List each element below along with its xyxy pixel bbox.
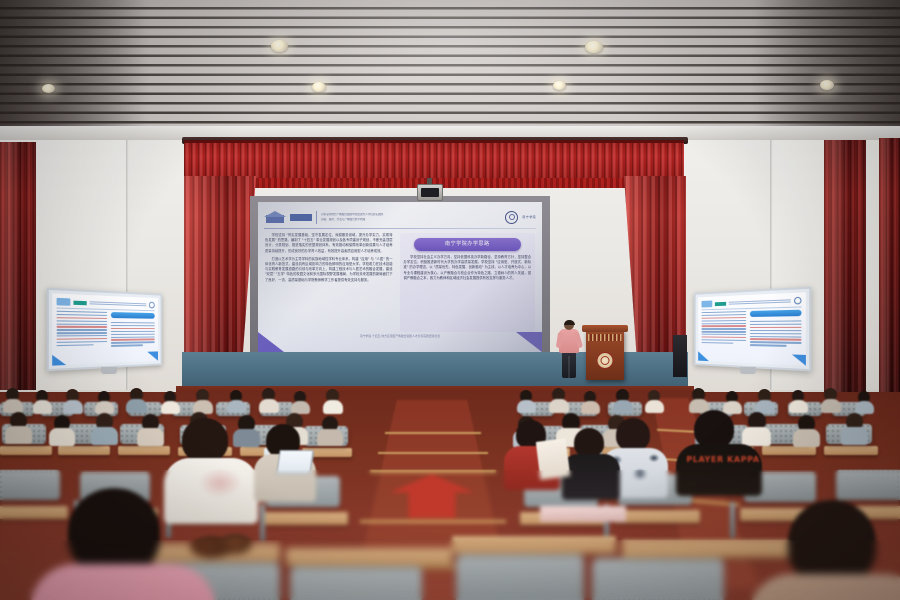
desk [762,446,816,455]
seat [456,554,584,600]
downlight-4 [553,81,566,90]
desk [0,506,68,519]
seat [0,470,60,500]
aisle-step-line-2 [378,452,488,454]
downlight-6 [820,80,834,90]
stage-speaker-box [673,335,687,377]
slide-section-title: 南宁学院办学思路 [414,238,521,251]
aisle-step-line-3 [370,470,496,473]
forward-arrow-icon [390,474,474,518]
window-curtain-right-2 [879,138,900,392]
mini-bar-icon [715,301,726,305]
university-name: 南宁学院 [522,215,536,219]
auditorium-scene: 对扣深化地方产教融合赋能中国式现代人才培养实践的 思路、路径、方法与产教融合办学… [0,0,900,600]
shirt-graphic [198,468,242,498]
seat [836,470,900,500]
left-paragraph-2: 打造以艺术学为主导学科的民族地域性学科专业体系，构建 "应用" 与 "人居" 的… [265,257,393,283]
header-rule [264,228,536,229]
seat-leg [260,504,265,542]
desk [452,536,616,554]
mini-right-col [111,312,155,353]
desk-paper [536,438,570,479]
presenter [558,320,580,378]
ceiling-camera-icon [417,184,443,201]
desk [614,510,700,523]
desk [824,446,878,455]
right-paragraph-1: 学校坚持社会主义办学方向，坚持依据科技办学新路径，坚持教育方针，坚持整合办学定位… [404,255,532,281]
desk-items [218,534,252,554]
mini-seal-icon [149,302,155,309]
slide-header: 对扣深化地方产教融合赋能中国式现代人才培养实践的 思路、路径、方法与产教融合办学… [264,207,536,227]
slide-left-column: 学校坚持 "育实发展基础，坚守发展定位，深耕服务领域，提升办学实力，实现特色发展… [265,233,393,332]
monitor-stand-right [740,367,756,374]
jacket-text: PLAYER KAPPA [686,455,760,464]
laptop-open [276,450,313,474]
downlight-1 [42,84,55,93]
slide-body: 学校坚持 "育实发展基础，坚守发展定位，深耕服务领域，提升办学实力，实现特色发展… [265,233,535,332]
desk-paper [540,506,626,522]
house-logo-icon [264,211,286,223]
university-seal-icon [505,211,518,224]
left-paragraph-1: 学校坚持 "育实发展基础，坚守发展定位，深耕服务领域，提升办学实力，实现特色发展… [265,233,393,254]
stage-curtain-pelmet [184,140,684,188]
mini-section-title [111,312,155,319]
lectern [586,330,624,380]
desk [286,548,452,566]
aisle-step-line-1 [385,432,481,434]
desk [118,446,170,455]
desk [262,512,348,525]
ceiling [0,0,900,132]
desk [58,446,110,455]
logo-bar-icon [290,214,312,221]
mini-section-title [750,310,802,317]
slide-footer: 南宁学院·十四五·地方应用型产教融合赋能人才培养实践经验交流 [258,332,542,352]
mini-right-col [750,310,802,355]
header-text-block: 对扣深化地方产教融合赋能中国式现代人才培养实践的 思路、路径、方法与产教融合办学… [321,213,501,221]
seat [592,558,724,600]
slide-header-line2: 思路、路径、方法与产教融合办学内涵 [321,218,501,221]
downlight-2 [271,40,288,52]
mini-left-col [57,311,108,355]
university-emblem-icon [597,352,614,369]
window-curtain-far-left [0,142,36,390]
desk [622,540,792,558]
mini-logo-icon [701,300,712,307]
header-divider [316,211,317,224]
side-display-left [47,288,162,372]
mini-seal-icon [794,297,802,305]
slide-right-column: 南宁学院办学思路 学校坚持社会主义办学方向，坚持依据科技办学新路径，坚持教育方针… [400,233,536,332]
monitor-stand-left [101,367,117,374]
aisle-step-line-4 [360,520,506,523]
main-projection-screen: 对扣深化地方产教融合赋能中国式现代人才培养实践的 思路、路径、方法与产教融合办学… [258,202,542,352]
mini-left-col [701,311,746,353]
seat-leg [730,502,735,538]
downlight-3 [312,82,326,92]
seat [290,566,422,600]
presentation-slide: 对扣深化地方产教融合赋能中国式现代人才培养实践的 思路、路径、方法与产教融合办学… [258,202,542,352]
mini-bar-icon [73,300,86,305]
desk [0,446,52,455]
slide-header-line1: 对扣深化地方产教融合赋能中国式现代人才培养实践的 [321,213,501,216]
mini-logo-icon [57,298,71,306]
slide-footer-text: 南宁学院·十四五·地方应用型产教融合赋能人才培养实践经验交流 [258,334,542,338]
downlight-5 [585,41,603,53]
side-display-right [694,287,811,372]
window-curtain-right-1 [824,140,866,392]
